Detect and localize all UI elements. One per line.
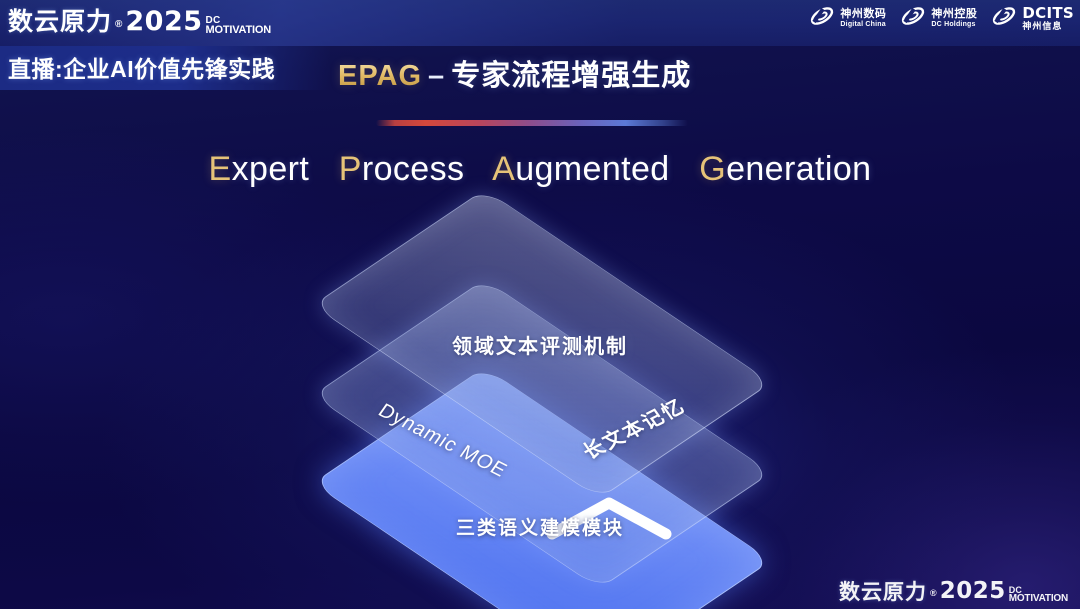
brand-year: 2025 — [940, 580, 1006, 603]
brand-name-cn: 数云原力 — [839, 582, 927, 603]
brand-registered-mark: ® — [930, 589, 937, 598]
title-chinese: 专家流程增强生成 — [451, 60, 691, 92]
title-divider — [376, 120, 688, 126]
partner-logo-digital-china: 神州数码 Digital China — [809, 5, 886, 32]
brand-registered-mark: ® — [115, 20, 122, 30]
live-banner-title: 直播:企业AI价值先锋实践 — [8, 50, 275, 84]
brand-logo-top: 数云原力 ® 2025 DC MOTIVATION — [8, 8, 271, 35]
partner-name-en: DCITS — [1022, 6, 1074, 22]
swirl-icon — [900, 5, 926, 32]
brand-motivation-label: MOTIVATION — [1009, 594, 1068, 603]
brand-motivation-label: MOTIVATION — [206, 25, 271, 35]
partner-name-cn: 神州数码 — [840, 9, 886, 21]
brand-year: 2025 — [125, 8, 202, 35]
title-dash: – — [422, 60, 451, 92]
subtitle-rest-augmented: ugmented — [515, 150, 669, 188]
subtitle-space-3 — [679, 150, 689, 188]
subtitle-space-1 — [319, 150, 329, 188]
partner-logo-text: 神州控股 DC Holdings — [931, 9, 977, 28]
subtitle-cap-p: P — [339, 150, 362, 188]
partner-logo-group: 神州数码 Digital China 神州控股 DC Holdings — [809, 5, 1074, 32]
brand-logo-bottom: 数云原力 ® 2025 DC MOTIVATION — [839, 580, 1068, 603]
brand-name-cn: 数云原力 — [8, 10, 112, 35]
partner-logo-dcits: DCITS 神州信息 — [991, 5, 1074, 32]
subtitle-space-2 — [474, 150, 484, 188]
page-title: EPAG–专家流程增强生成 — [338, 52, 691, 94]
swirl-icon — [991, 5, 1017, 32]
partner-name-cn: 神州信息 — [1022, 22, 1074, 31]
title-acronym: EPAG — [338, 60, 422, 92]
brand-dc-motivation: DC MOTIVATION — [1009, 586, 1068, 603]
partner-logo-text: DCITS 神州信息 — [1022, 6, 1074, 31]
subtitle-word-augmented: Augmented — [492, 150, 670, 188]
diagram-label-top: 领域文本评测机制 — [0, 330, 1080, 359]
swirl-icon — [809, 5, 835, 32]
partner-name-en: DC Holdings — [931, 21, 977, 28]
partner-logo-text: 神州数码 Digital China — [840, 9, 886, 28]
subtitle-rest-generation: eneration — [726, 150, 871, 188]
subtitle-rest-process: rocess — [362, 150, 465, 188]
brand-dc-motivation: DC MOTIVATION — [206, 16, 271, 35]
subtitle-cap-e: E — [209, 150, 232, 188]
subtitle-word-generation: Generation — [699, 150, 871, 188]
subtitle-english: Expert Process Augmented Generation — [0, 150, 1080, 189]
subtitle-word-process: Process — [339, 150, 465, 188]
slide-canvas: 数云原力 ® 2025 DC MOTIVATION 神州数码 Digital C… — [0, 0, 1080, 609]
subtitle-rest-expert: xpert — [232, 150, 310, 188]
partner-name-en: Digital China — [840, 21, 886, 28]
subtitle-cap-a: A — [492, 150, 515, 188]
subtitle-cap-g: G — [699, 150, 726, 188]
partner-logo-dc-holdings: 神州控股 DC Holdings — [900, 5, 977, 32]
partner-name-cn: 神州控股 — [931, 9, 977, 21]
diagram-label-bottom: 三类语义建模模块 — [0, 513, 1080, 540]
subtitle-word-expert: Expert — [209, 150, 310, 188]
